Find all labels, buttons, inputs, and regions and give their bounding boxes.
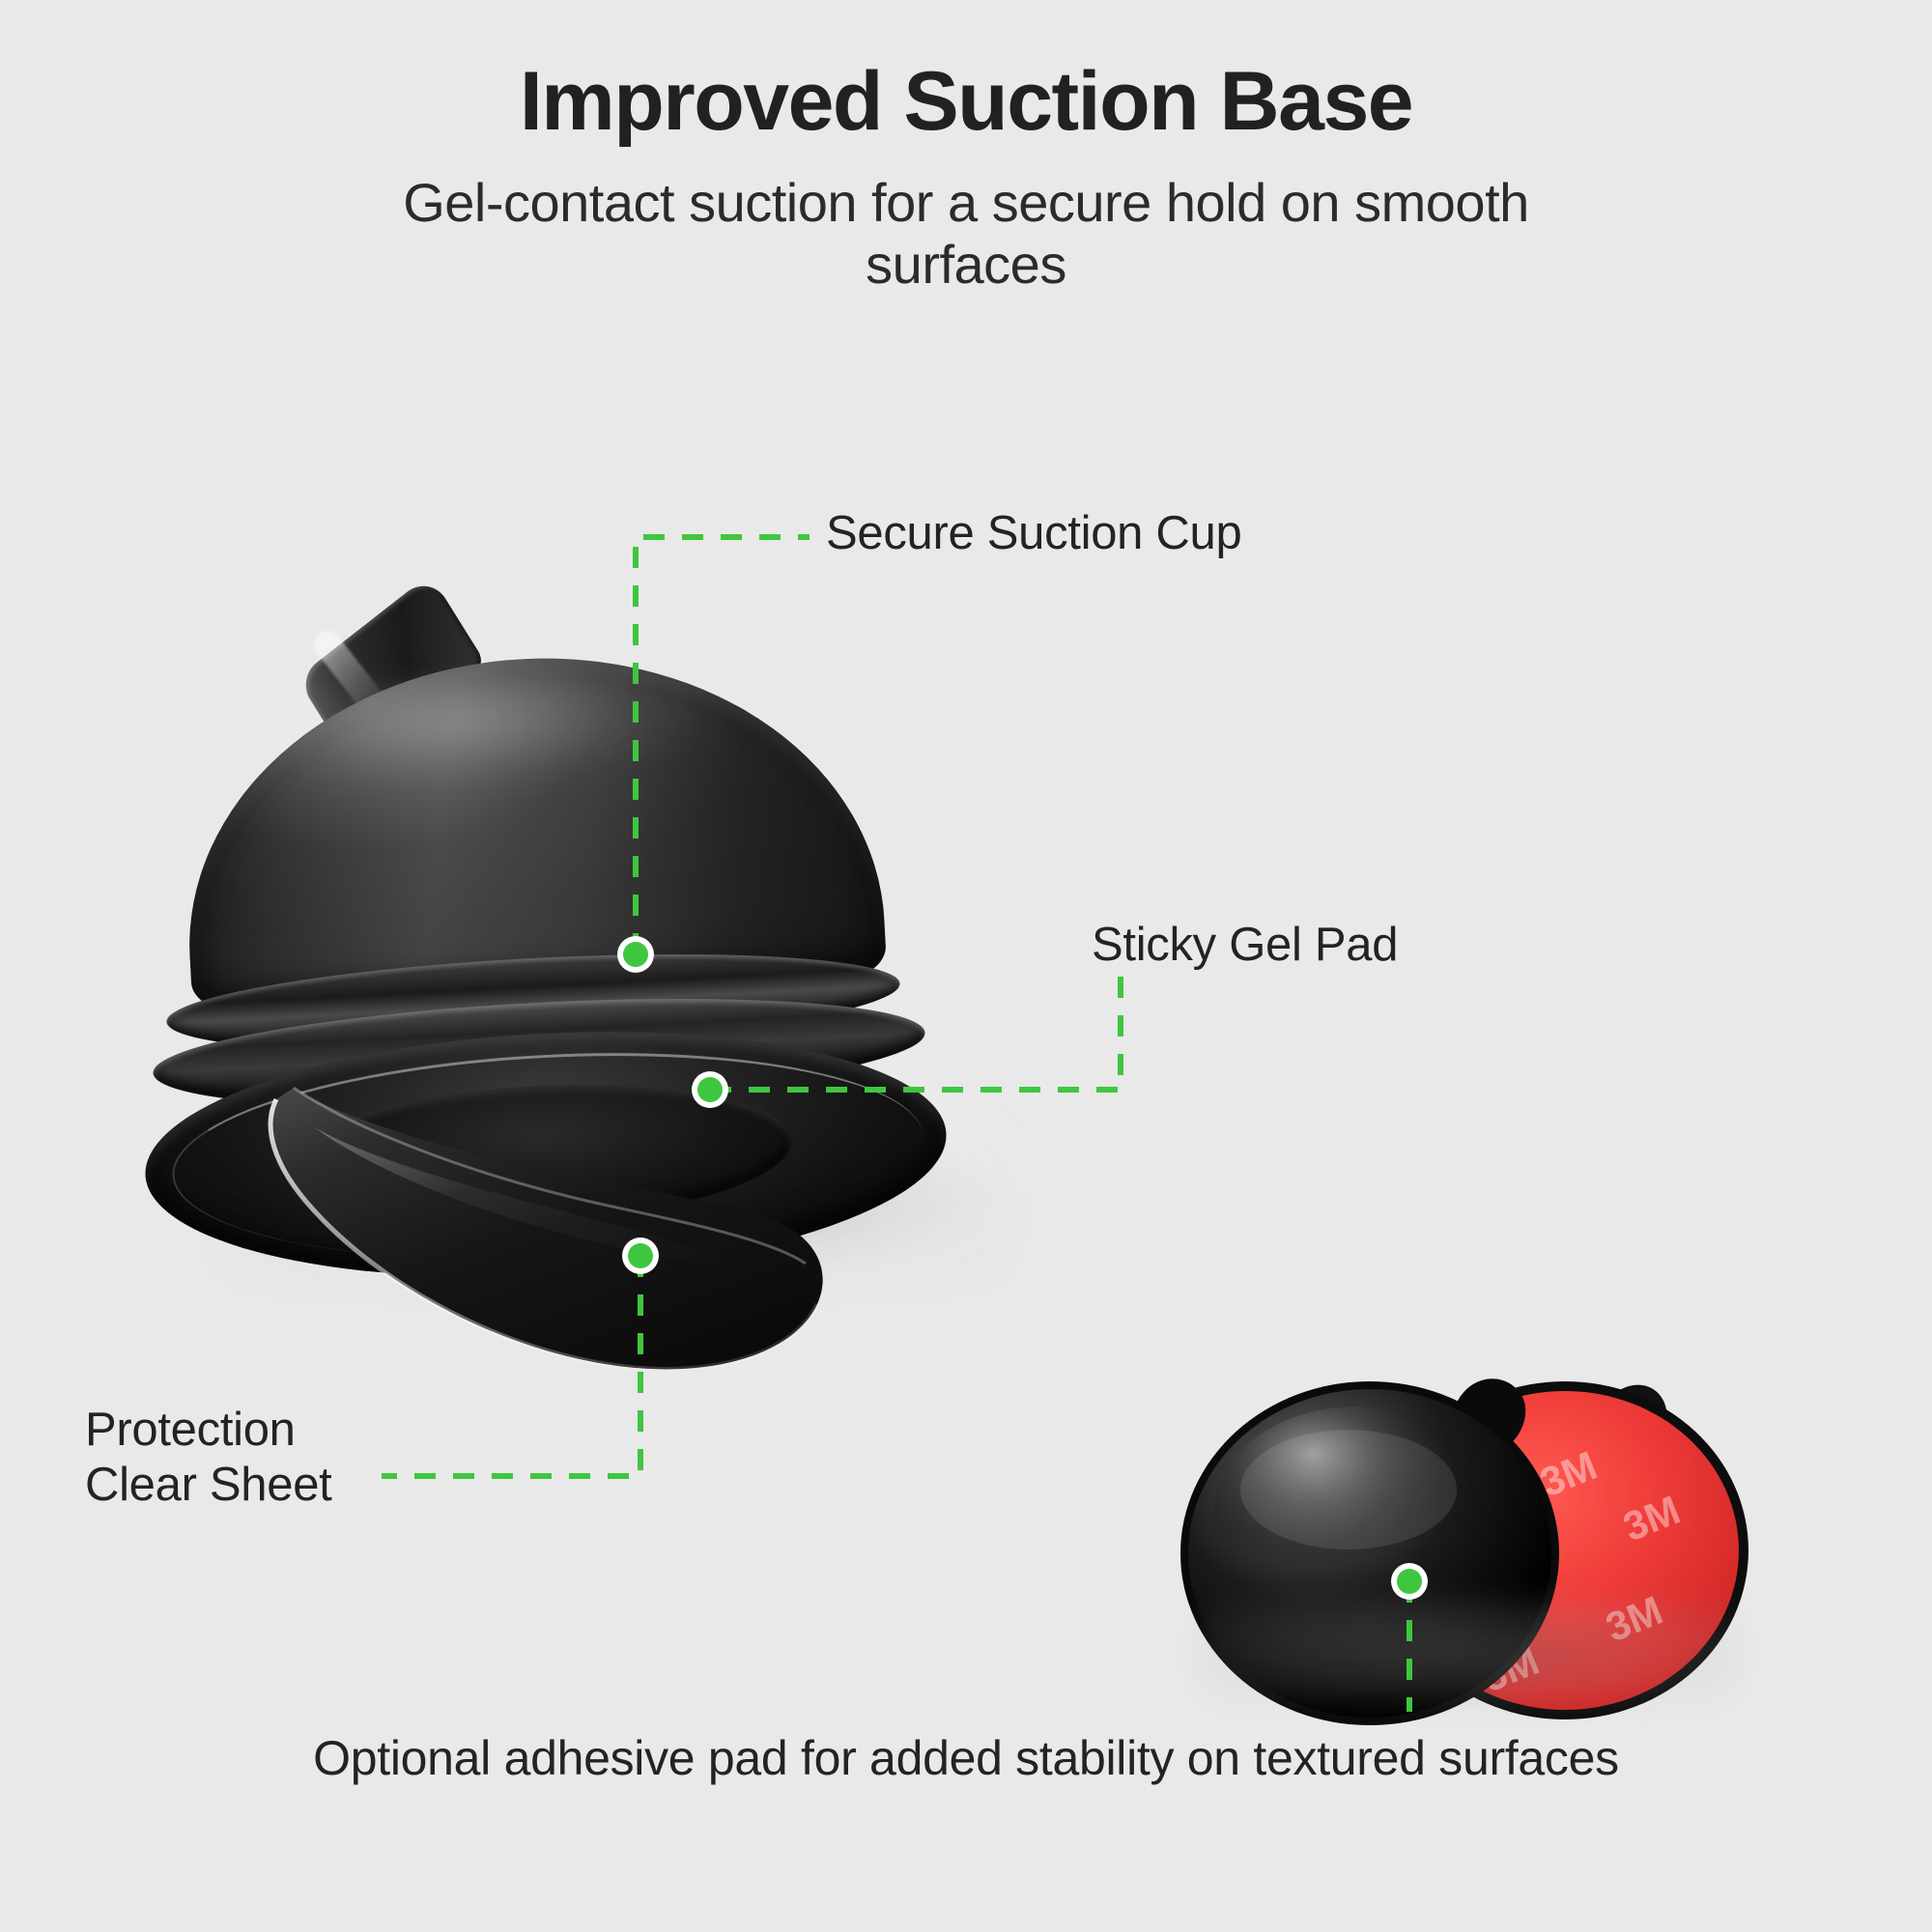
callout-label-protection-clear-sheet: Protection Clear Sheet bbox=[85, 1403, 331, 1513]
protection-clear-sheet-art bbox=[168, 1059, 844, 1426]
adhesive-pad-shadow bbox=[1198, 1599, 1739, 1705]
product-image-suction-base bbox=[145, 618, 1072, 1352]
header: Improved Suction Base Gel-contact suctio… bbox=[0, 60, 1932, 296]
infographic-page: Improved Suction Base Gel-contact suctio… bbox=[0, 0, 1932, 1932]
page-subtitle: Gel-contact suction for a secure hold on… bbox=[328, 172, 1604, 296]
callout-label-sticky-gel-pad: Sticky Gel Pad bbox=[1092, 918, 1398, 973]
callout-label-adhesive-pad: Optional adhesive pad for added stabilit… bbox=[0, 1729, 1932, 1788]
product-image-adhesive-pad: 3M 3M 3M 3M 3M 3M 3M 3M bbox=[1150, 1352, 1864, 1739]
page-title: Improved Suction Base bbox=[0, 60, 1932, 143]
callout-label-secure-suction-cup: Secure Suction Cup bbox=[826, 506, 1241, 561]
dome-sheen bbox=[266, 663, 725, 802]
